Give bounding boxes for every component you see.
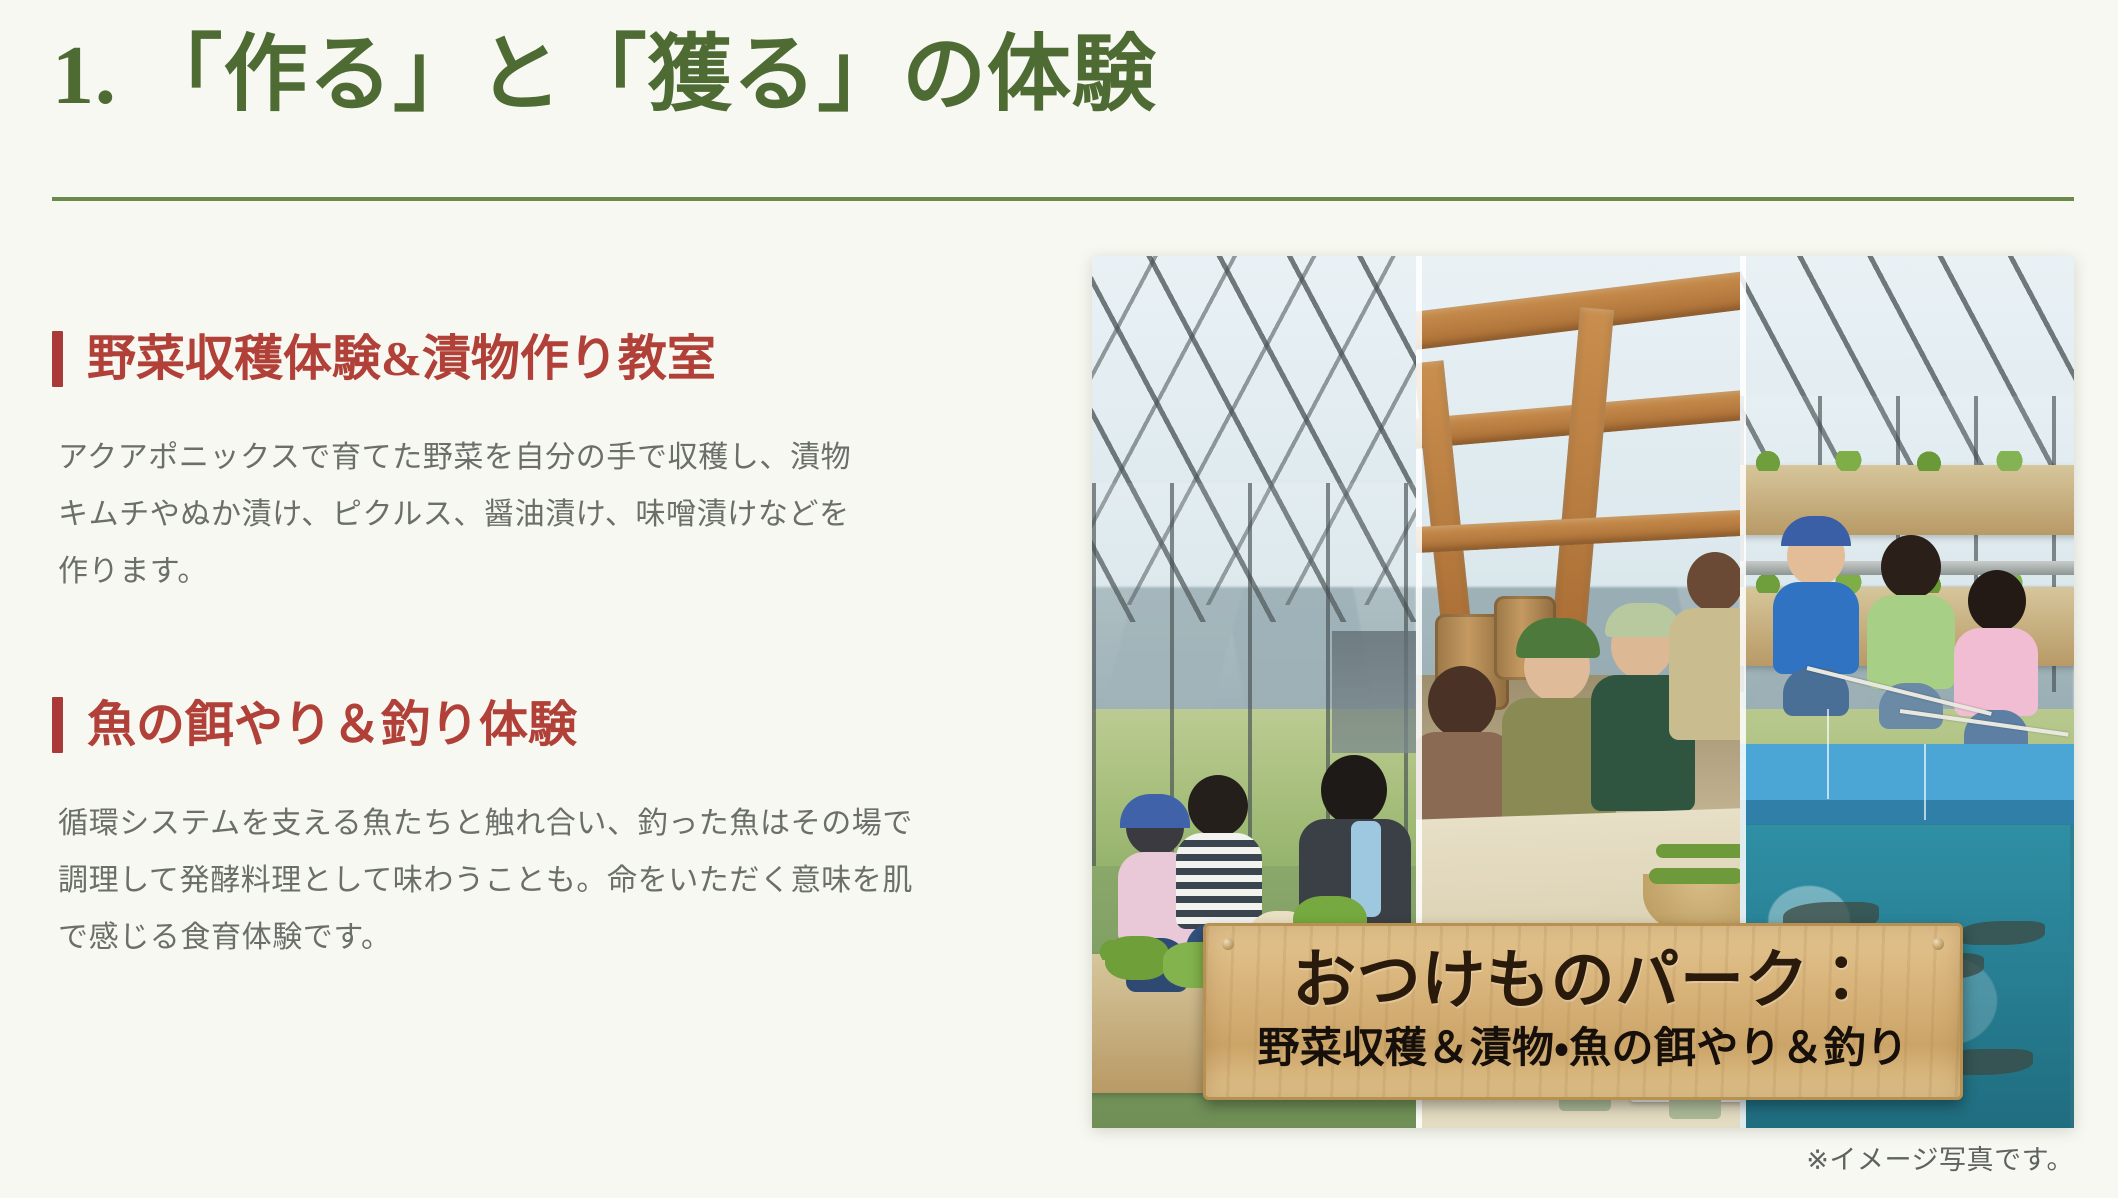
head xyxy=(1687,552,1740,612)
paragraph-line: で感じる食育体験です。 xyxy=(58,909,952,966)
feature-photo: おつけものパーク： 野菜収穫＆漬物・魚の餌やり＆釣り xyxy=(1092,256,2074,1128)
feature-description-vegetable-harvest: アクアポニックスで育てた野菜を自分の手で収穫し、漬物 キムチやぬか漬け、ピクルス… xyxy=(52,429,952,600)
person-boy-blue-cap xyxy=(1773,518,1859,714)
fishing-line xyxy=(1827,709,1829,799)
accent-bar-icon xyxy=(52,697,63,753)
distant-greenhouse-building xyxy=(1332,631,1416,753)
content-column: 野菜収穫体験&漬物作り教室 アクアポニックスで育てた野菜を自分の手で収穫し、漬物… xyxy=(52,330,1032,966)
feature-description-fish-feeding: 循環システムを支える魚たちと触れ合い、釣った魚はその場で 調理して発酵料理として… xyxy=(52,795,952,966)
head xyxy=(1321,755,1387,825)
sub-heading-label: 野菜収穫体験&漬物作り教室 xyxy=(87,330,716,389)
head xyxy=(1881,535,1941,599)
fishing-line xyxy=(1924,744,1926,820)
head xyxy=(1188,775,1248,837)
fish xyxy=(1959,921,2045,945)
cucumber xyxy=(1656,844,1740,858)
person-worker-far xyxy=(1669,552,1740,740)
accent-bar-icon xyxy=(52,331,63,387)
feature-block-fish-feeding: 魚の餌やり＆釣り体験 循環システムを支える魚たちと触れ合い、釣った魚はその場で … xyxy=(52,696,1032,966)
torso xyxy=(1669,608,1740,740)
sub-heading-vegetable-harvest: 野菜収穫体験&漬物作り教室 xyxy=(52,330,1032,389)
sub-heading-fish-feeding: 魚の餌やり＆釣り体験 xyxy=(52,696,1032,755)
paragraph-line: アクアポニックスで育てた野菜を自分の手で収穫し、漬物 xyxy=(58,429,952,486)
title-divider xyxy=(52,197,2074,201)
lettuce-row xyxy=(1105,936,1169,980)
page-title: 1. 「作る」と「獲る」の体験 xyxy=(52,28,1157,125)
cap-icon xyxy=(1781,516,1851,546)
paragraph-line: キムチやぬか漬け、ピクルス、醤油漬け、味噌漬けなどを xyxy=(58,486,952,543)
head xyxy=(1968,570,2026,632)
feature-block-vegetable-harvest: 野菜収穫体験&漬物作り教室 アクアポニックスで育てた野菜を自分の手で収穫し、漬物… xyxy=(52,330,1032,600)
paragraph-line: 作ります。 xyxy=(58,543,952,600)
image-caption: ※イメージ写真です。 xyxy=(1806,1138,2074,1177)
person-boy-green-shirt xyxy=(1867,535,1955,727)
bandana-icon xyxy=(1516,618,1600,658)
sign-subtitle: 野菜収穫＆漬物・魚の餌やり＆釣り xyxy=(1232,1023,1934,1073)
torso xyxy=(1773,582,1859,674)
paragraph-line: 循環システムを支える魚たちと触れ合い、釣った魚はその場で xyxy=(58,795,952,852)
sub-heading-label: 魚の餌やり＆釣り体験 xyxy=(87,696,577,755)
wooden-sign: おつけものパーク： 野菜収穫＆漬物・魚の餌やり＆釣り xyxy=(1203,923,1963,1100)
paragraph-line: 調理して発酵料理として味わうことも。命をいただく意味を肌 xyxy=(58,852,952,909)
cucumber xyxy=(1649,868,1740,884)
torso xyxy=(1954,628,2038,716)
head xyxy=(1428,666,1496,738)
torso xyxy=(1867,595,1955,689)
sign-title: おつけものパーク： xyxy=(1232,946,1934,1016)
